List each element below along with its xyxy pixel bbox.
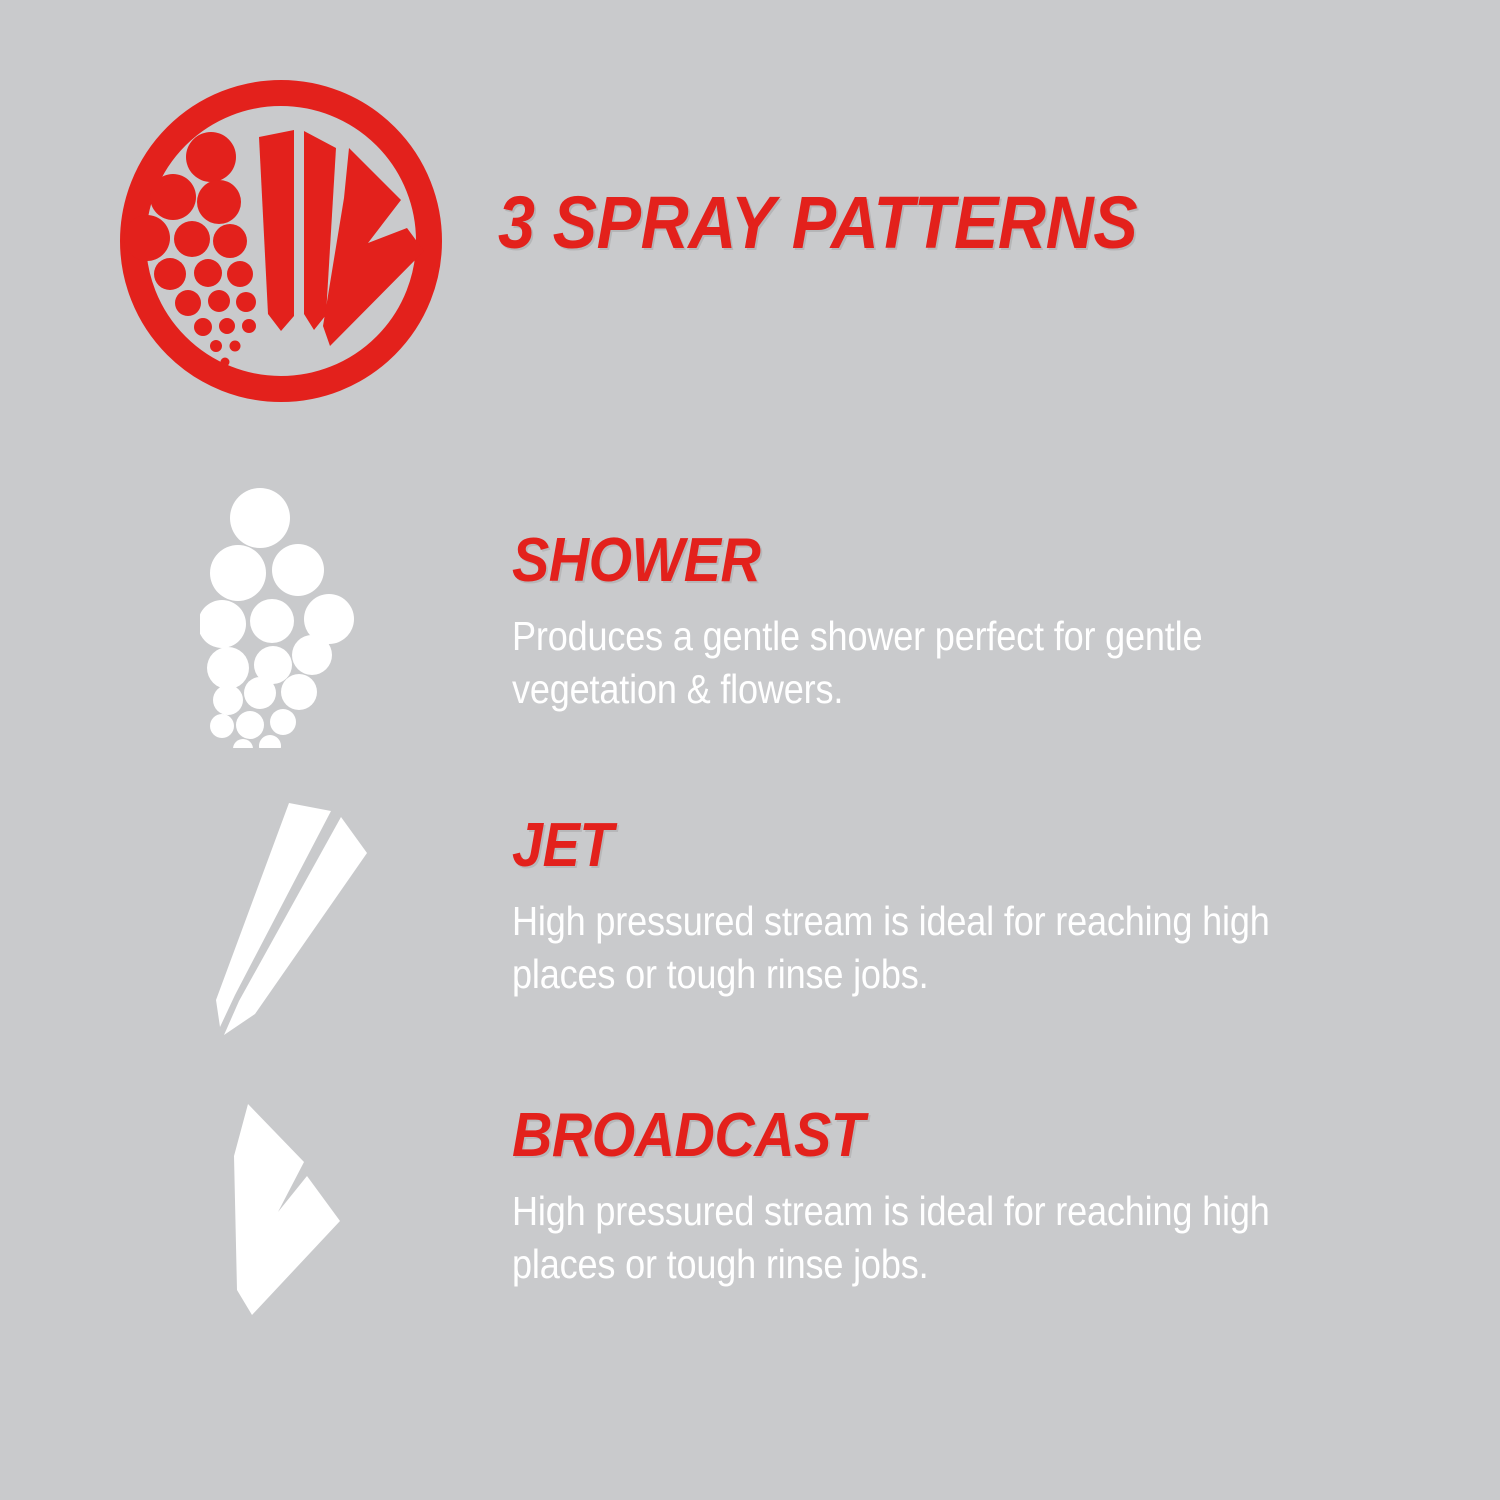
feature-heading-broadcast: BROADCAST bbox=[512, 1105, 1268, 1167]
feature-description-jet: High pressured stream is ideal for reach… bbox=[512, 895, 1347, 1002]
feature-heading-jet: JET bbox=[512, 815, 1268, 877]
shower-droplets-icon bbox=[200, 488, 370, 748]
page-title: 3 SPRAY PATTERNS bbox=[498, 186, 1137, 260]
feature-text-broadcast: BROADCAST High pressured stream is ideal… bbox=[512, 1105, 1352, 1292]
spray-patterns-badge-icon bbox=[118, 78, 444, 404]
feature-description-broadcast: High pressured stream is ideal for reach… bbox=[512, 1185, 1347, 1292]
spray-patterns-infographic: 3 SPRAY PATTERNS bbox=[0, 0, 1500, 1500]
broadcast-fan-icon bbox=[200, 1090, 380, 1320]
feature-text-shower: SHOWER Produces a gentle shower perfect … bbox=[512, 530, 1352, 717]
feature-description-shower: Produces a gentle shower perfect for gen… bbox=[512, 610, 1347, 717]
jet-stream-icon bbox=[195, 795, 390, 1040]
feature-text-jet: JET High pressured stream is ideal for r… bbox=[512, 815, 1352, 1002]
feature-heading-shower: SHOWER bbox=[512, 530, 1268, 592]
